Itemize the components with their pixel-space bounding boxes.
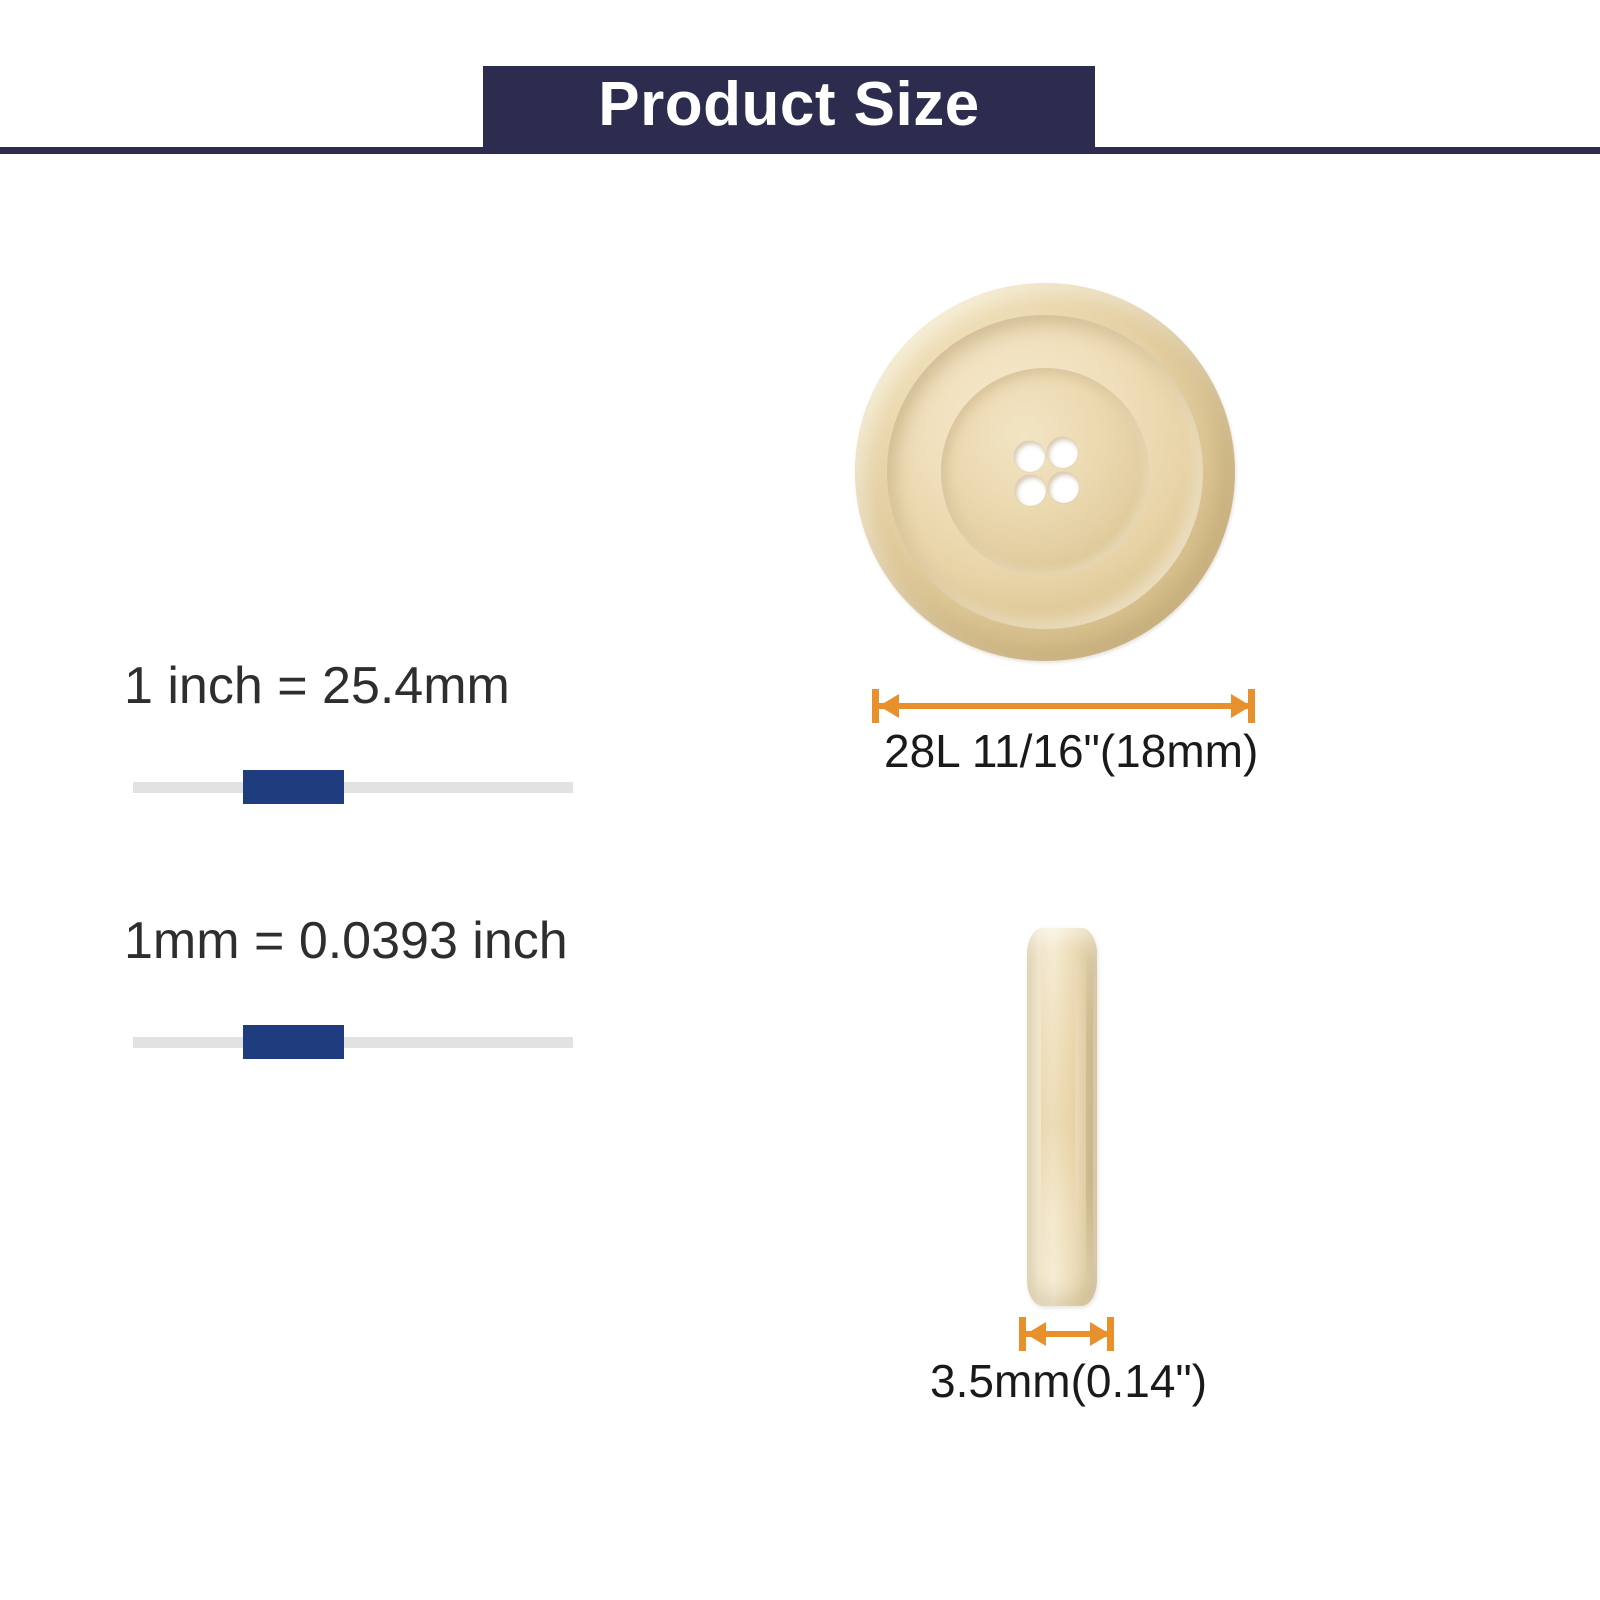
scale-slider-thumb-inch[interactable] [243,770,344,804]
header-title-box: Product Size [483,66,1095,147]
header-divider-rule [0,147,1600,154]
button-hole-bottom-left [1015,475,1046,506]
dimension-thickness-arrow-left [1026,1322,1046,1346]
dimension-width-arrow-left [879,694,899,718]
dimension-width-arrow-right [1231,694,1251,718]
button-front-view-image [855,283,1235,661]
button-hole-top-left [1014,441,1045,472]
scale-slider-track-mm[interactable] [133,1037,573,1048]
button-side-edge-highlight [1086,951,1093,1284]
dimension-width-label: 28L 11/16"(18mm) [884,728,1258,774]
button-side-view-image [1027,928,1097,1306]
dimension-width-end-cap-left [872,689,879,723]
scale-slider-track-inch[interactable] [133,782,573,793]
scale-slider-thumb-mm[interactable] [243,1025,344,1059]
button-rim [887,315,1202,629]
button-side-grain [1041,928,1075,1306]
dimension-thickness-end-cap-left [1019,1317,1026,1351]
dimension-thickness-label: 3.5mm(0.14") [930,1358,1207,1404]
dimension-width-line [879,703,1251,709]
header-banner: Product Size [0,0,1600,160]
dimension-thickness-arrow-right [1090,1322,1110,1346]
button-hole-top-right [1047,437,1078,468]
page-title: Product Size [598,74,980,136]
conversion-label-mm-to-inch: 1mm = 0.0393 inch [124,915,568,967]
button-face [941,368,1149,575]
button-hole-bottom-right [1048,472,1079,503]
scale-slider-mm[interactable] [133,1025,573,1059]
scale-slider-inch[interactable] [133,770,573,804]
conversion-label-inch-to-mm: 1 inch = 25.4mm [124,660,510,712]
